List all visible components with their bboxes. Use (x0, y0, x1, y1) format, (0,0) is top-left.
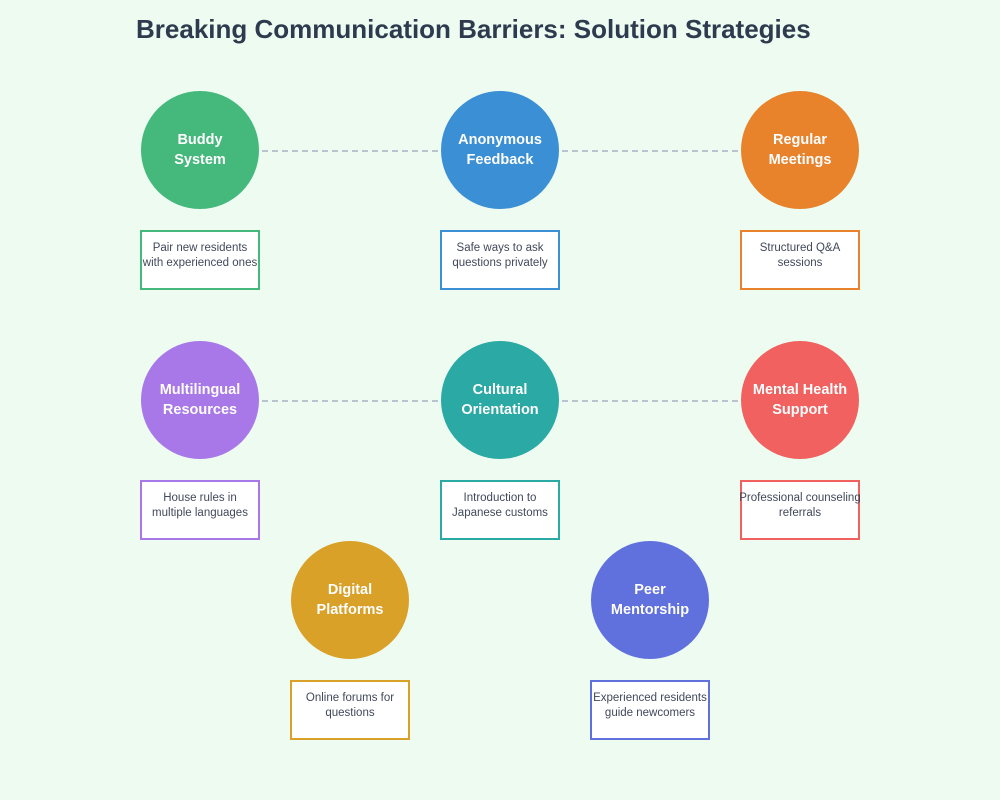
node-circle-digital-platforms[interactable]: Digital Platforms (291, 541, 409, 659)
description-text-multilingual-resources: House rules in multiple languages (130, 491, 270, 521)
node-circle-buddy-system[interactable]: Buddy System (141, 91, 259, 209)
node-label-anonymous-feedback: Anonymous Feedback (444, 130, 556, 170)
description-box-digital-platforms[interactable]: Online forums for questions (290, 680, 410, 740)
node-circle-peer-mentorship[interactable]: Peer Mentorship (591, 541, 709, 659)
description-text-regular-meetings: Structured Q&A sessions (730, 241, 870, 271)
description-box-regular-meetings[interactable]: Structured Q&A sessions (740, 230, 860, 290)
page-title: Breaking Communication Barriers: Solutio… (136, 14, 811, 45)
connector-buddy-to-anonymous (262, 150, 438, 152)
description-box-cultural-orientation[interactable]: Introduction to Japanese customs (440, 480, 560, 540)
description-box-mental-health-support[interactable]: Professional counseling referrals (740, 480, 860, 540)
node-label-peer-mentorship: Peer Mentorship (594, 580, 706, 620)
description-box-multilingual-resources[interactable]: House rules in multiple languages (140, 480, 260, 540)
node-label-buddy-system: Buddy System (144, 130, 256, 170)
node-circle-multilingual-resources[interactable]: Multilingual Resources (141, 341, 259, 459)
description-box-buddy-system[interactable]: Pair new residents with experienced ones (140, 230, 260, 290)
description-text-mental-health-support: Professional counseling referrals (730, 491, 870, 521)
description-box-peer-mentorship[interactable]: Experienced residents guide newcomers (590, 680, 710, 740)
connector-anonymous-to-regular (562, 150, 738, 152)
description-text-anonymous-feedback: Safe ways to ask questions privately (430, 241, 570, 271)
description-text-peer-mentorship: Experienced residents guide newcomers (580, 691, 720, 721)
description-text-digital-platforms: Online forums for questions (280, 691, 420, 721)
node-label-multilingual-resources: Multilingual Resources (144, 380, 256, 420)
node-label-regular-meetings: Regular Meetings (744, 130, 856, 170)
connector-multilingual-to-cultural (262, 400, 438, 402)
node-circle-anonymous-feedback[interactable]: Anonymous Feedback (441, 91, 559, 209)
connector-cultural-to-mental (562, 400, 738, 402)
node-label-cultural-orientation: Cultural Orientation (444, 380, 556, 420)
node-circle-regular-meetings[interactable]: Regular Meetings (741, 91, 859, 209)
diagram-canvas: Breaking Communication Barriers: Solutio… (0, 0, 1000, 800)
node-circle-cultural-orientation[interactable]: Cultural Orientation (441, 341, 559, 459)
node-label-mental-health-support: Mental Health Support (744, 380, 856, 420)
description-text-buddy-system: Pair new residents with experienced ones (130, 241, 270, 271)
description-box-anonymous-feedback[interactable]: Safe ways to ask questions privately (440, 230, 560, 290)
node-label-digital-platforms: Digital Platforms (294, 580, 406, 620)
node-circle-mental-health-support[interactable]: Mental Health Support (741, 341, 859, 459)
description-text-cultural-orientation: Introduction to Japanese customs (430, 491, 570, 521)
